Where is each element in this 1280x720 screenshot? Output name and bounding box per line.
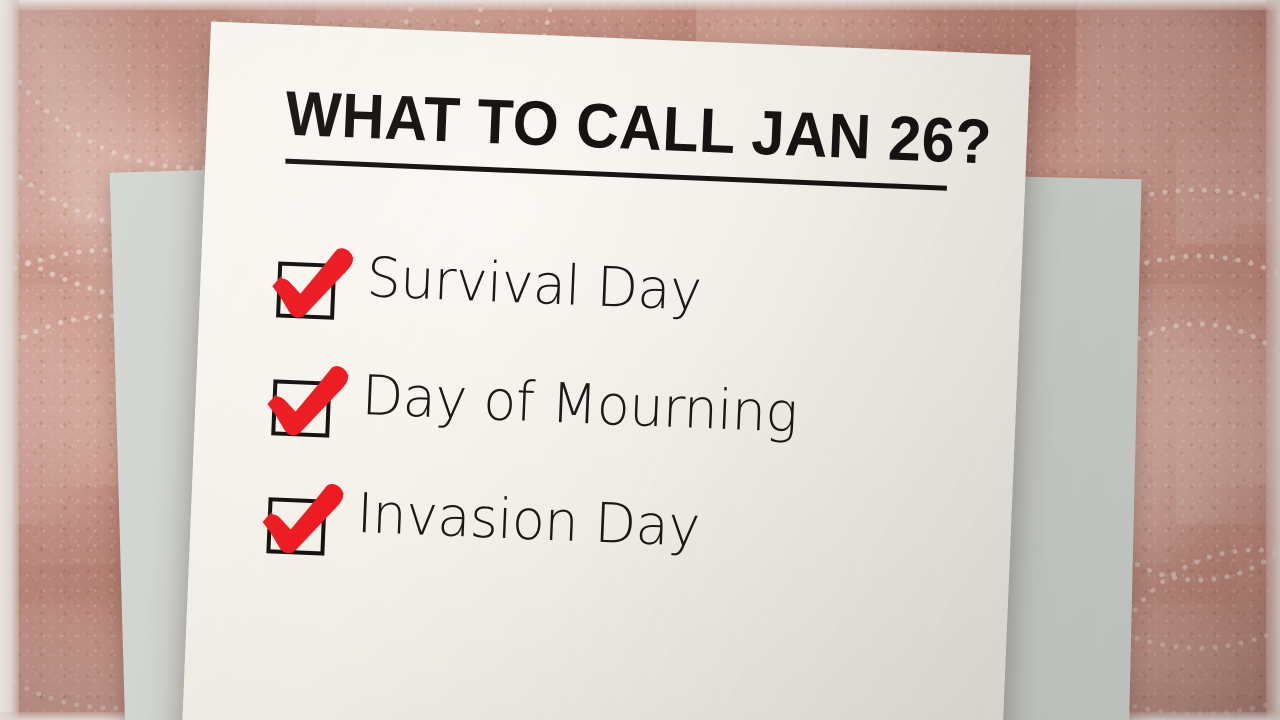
checklist-item-label: Invasion Day (356, 486, 701, 555)
checkbox-checked-icon[interactable] (273, 256, 342, 323)
card-title: WHAT TO CALL JAN 26? (284, 83, 925, 172)
news-graphic-stage: .dt { fill:none; stroke:#f4e6df; stroke-… (0, 0, 1280, 720)
frame-border-right (1266, 0, 1280, 720)
checklist: Survival Day Day of Mourning (261, 246, 975, 628)
checklist-item-label: Survival Day (366, 250, 703, 319)
checkbox-checked-icon[interactable] (263, 492, 332, 559)
main-paper-card: WHAT TO CALL JAN 26? Survival Day (182, 21, 1031, 720)
frame-border-left (0, 0, 19, 720)
checkbox-checked-icon[interactable] (268, 374, 337, 441)
frame-border-top (0, 0, 1280, 10)
checklist-item-label: Day of Mourning (361, 368, 799, 441)
